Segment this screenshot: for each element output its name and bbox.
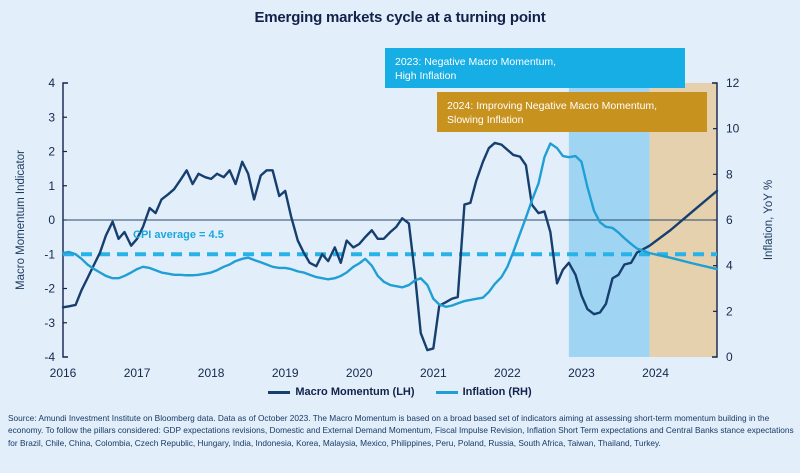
y-tick-label: -1 — [44, 247, 55, 261]
y2-tick-label: 2 — [726, 304, 733, 318]
callout-box-2024: 2024: Improving Negative Macro Momentum,… — [437, 92, 707, 132]
y-tick-label: -4 — [44, 350, 55, 364]
legend-item-macro-momentum: Macro Momentum (LH) — [268, 386, 414, 398]
x-tick-label: 2020 — [346, 366, 373, 380]
y-tick-label: 3 — [48, 110, 55, 124]
x-tick-label: 2022 — [494, 366, 521, 380]
cpi-average-annotation: CPI average = 4.5 — [133, 229, 224, 241]
source-divider — [0, 405, 800, 406]
y2-tick-label: 12 — [726, 76, 740, 90]
legend-item-inflation: Inflation (RH) — [436, 386, 532, 398]
x-tick-label: 2018 — [198, 366, 225, 380]
y2-tick-label: 6 — [726, 213, 733, 227]
source-note: Source: Amundi Investment Institute on B… — [8, 412, 796, 449]
y-tick-label: 0 — [48, 213, 55, 227]
x-tick-label: 2024 — [642, 366, 669, 380]
callout-box-2023: 2023: Negative Macro Momentum, High Infl… — [385, 48, 685, 88]
y-tick-label: 4 — [48, 76, 55, 90]
x-tick-label: 2021 — [420, 366, 447, 380]
x-tick-label: 2017 — [124, 366, 151, 380]
legend-label-macro-momentum: Macro Momentum (LH) — [295, 386, 414, 398]
x-tick-label: 2023 — [568, 366, 595, 380]
y2-tick-label: 10 — [726, 122, 740, 136]
y-tick-label: 1 — [48, 179, 55, 193]
x-tick-label: 2019 — [272, 366, 299, 380]
y-tick-label: 2 — [48, 145, 55, 159]
legend-swatch-macro-momentum — [268, 391, 290, 394]
legend-label-inflation: Inflation (RH) — [463, 386, 532, 398]
legend-swatch-inflation — [436, 391, 458, 394]
y2-tick-label: 4 — [726, 259, 733, 273]
x-tick-label: 2016 — [50, 366, 77, 380]
y2-axis-title: Inflation, YoY % — [763, 180, 775, 260]
y-axis-title: Macro Momentum Indicator — [15, 150, 27, 290]
y-tick-label: -3 — [44, 316, 55, 330]
y2-tick-label: 8 — [726, 167, 733, 181]
y2-tick-label: 0 — [726, 350, 733, 364]
chart-legend: Macro Momentum (LH) Inflation (RH) — [0, 386, 800, 398]
y-tick-label: -2 — [44, 282, 55, 296]
